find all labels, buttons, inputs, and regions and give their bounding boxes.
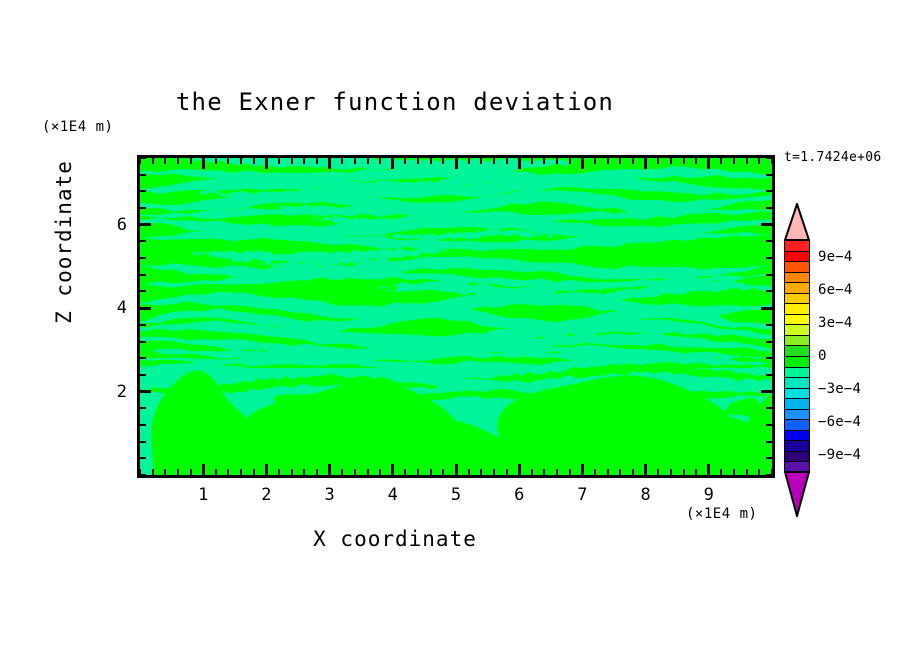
yaxis-tick-right: [766, 441, 772, 443]
xaxis-tick-minor: [278, 469, 280, 475]
xaxis-tick-minor: [417, 469, 419, 475]
yaxis-tick-minor: [140, 474, 146, 476]
xaxis-tick-top: [215, 158, 217, 164]
xaxis-tick-minor: [253, 469, 255, 475]
xaxis-tick-top: [379, 158, 381, 164]
time-stamp-label: t=1.7424e+06: [784, 150, 882, 165]
yaxis-tick-minor: [140, 274, 146, 276]
xaxis-tick-label: 5: [451, 485, 461, 505]
xaxis-tick-top: [569, 158, 571, 164]
xaxis-tick-minor: [607, 469, 609, 475]
yaxis-tick-right: [761, 307, 772, 310]
xaxis-tick-top: [581, 158, 584, 169]
colorbar-tick-label: −6e−4: [818, 414, 861, 430]
xaxis-tick-major: [518, 464, 521, 475]
xaxis-tick-top: [265, 158, 268, 169]
xaxis-tick-minor: [379, 469, 381, 475]
negative-contour-bands: [140, 158, 772, 475]
xaxis-tick-top: [455, 158, 458, 169]
yaxis-tick-major: [140, 223, 151, 226]
xaxis-tick-minor: [543, 469, 545, 475]
xaxis-tick-top: [190, 158, 192, 164]
yaxis-tick-right: [766, 374, 772, 376]
xaxis-tick-top: [594, 158, 596, 164]
xaxis-tick-minor: [152, 469, 154, 475]
xaxis-tick-minor: [164, 469, 166, 475]
yaxis-tick-right: [766, 240, 772, 242]
yaxis-tick-minor: [140, 374, 146, 376]
yaxis-tick-right: [766, 474, 772, 476]
xaxis-units-label: (×1E4 m): [686, 506, 757, 522]
xaxis-tick-minor: [480, 469, 482, 475]
xaxis-tick-minor: [720, 469, 722, 475]
xaxis-tick-major: [707, 464, 710, 475]
yaxis-tick-right: [766, 207, 772, 209]
xaxis-tick-top: [720, 158, 722, 164]
xaxis-tick-top: [619, 158, 621, 164]
yaxis-tick-right: [766, 357, 772, 359]
xaxis-tick-minor: [303, 469, 305, 475]
xaxis-tick-top: [695, 158, 697, 164]
yaxis-tick-minor: [140, 174, 146, 176]
yaxis-tick-minor: [140, 457, 146, 459]
xaxis-tick-minor: [619, 469, 621, 475]
xaxis-tick-top: [707, 158, 710, 169]
colorbar: [784, 240, 810, 472]
xaxis-tick-minor: [316, 469, 318, 475]
colorbar-tick-label: −9e−4: [818, 447, 861, 463]
xaxis-tick-label: 4: [388, 485, 398, 505]
xaxis-tick-minor: [758, 469, 760, 475]
xaxis-tick-major: [202, 464, 205, 475]
yaxis-tick-minor: [140, 240, 146, 242]
xaxis-tick-top: [733, 158, 735, 164]
yaxis-tick-right: [766, 407, 772, 409]
xaxis-tick-top: [468, 158, 470, 164]
yaxis-tick-right: [766, 290, 772, 292]
figure-canvas: the Exner function deviation (×1E4 m) t=…: [0, 0, 904, 654]
yaxis-tick-minor: [140, 407, 146, 409]
xaxis-tick-minor: [468, 469, 470, 475]
yaxis-tick-major: [140, 390, 151, 393]
yaxis-tick-right: [766, 257, 772, 259]
xaxis-tick-top: [303, 158, 305, 164]
xaxis-tick-minor: [240, 469, 242, 475]
colorbar-over-arrow: [784, 203, 810, 241]
yaxis-tick-minor: [140, 257, 146, 259]
xaxis-tick-minor: [354, 469, 356, 475]
xaxis-tick-minor: [190, 469, 192, 475]
xaxis-tick-minor: [746, 469, 748, 475]
xaxis-tick-minor: [177, 469, 179, 475]
yaxis-tick-right: [761, 223, 772, 226]
xaxis-tick-top: [746, 158, 748, 164]
xaxis-tick-minor: [430, 469, 432, 475]
xaxis-tick-minor: [733, 469, 735, 475]
xaxis-tick-minor: [291, 469, 293, 475]
xaxis-tick-top: [480, 158, 482, 164]
xaxis-tick-minor: [506, 469, 508, 475]
xaxis-tick-major: [265, 464, 268, 475]
yaxis-tick-right: [766, 424, 772, 426]
yaxis-units-label: (×1E4 m): [42, 119, 113, 135]
xaxis-tick-top: [758, 158, 760, 164]
xaxis-tick-major: [581, 464, 584, 475]
xaxis-tick-label: 8: [640, 485, 650, 505]
xaxis-tick-minor: [632, 469, 634, 475]
xaxis-tick-top: [367, 158, 369, 164]
contour-field: [140, 158, 772, 475]
yaxis-tick-right: [766, 157, 772, 159]
yaxis-tick-right: [766, 457, 772, 459]
xaxis-tick-major: [455, 464, 458, 475]
yaxis-tick-right: [761, 390, 772, 393]
xaxis-tick-minor: [657, 469, 659, 475]
xaxis-tick-top: [417, 158, 419, 164]
xaxis-tick-top: [644, 158, 647, 169]
xaxis-tick-top: [670, 158, 672, 164]
yaxis-title: Z coordinate: [52, 152, 76, 332]
xaxis-tick-label: 7: [577, 485, 587, 505]
xaxis-tick-top: [531, 158, 533, 164]
xaxis-tick-label: 3: [324, 485, 334, 505]
yaxis-tick-minor: [140, 157, 146, 159]
colorbar-tick-label: 6e−4: [818, 282, 853, 298]
xaxis-tick-top: [430, 158, 432, 164]
xaxis-tick-top: [543, 158, 545, 164]
xaxis-title: X coordinate: [0, 527, 790, 551]
yaxis-tick-right: [766, 341, 772, 343]
yaxis-tick-minor: [140, 207, 146, 209]
xaxis-tick-top: [657, 158, 659, 164]
xaxis-tick-minor: [683, 469, 685, 475]
xaxis-tick-minor: [227, 469, 229, 475]
xaxis-tick-top: [493, 158, 495, 164]
xaxis-tick-top: [152, 158, 154, 164]
xaxis-tick-top: [607, 158, 609, 164]
yaxis-tick-right: [766, 274, 772, 276]
xaxis-tick-top: [316, 158, 318, 164]
xaxis-tick-top: [683, 158, 685, 164]
yaxis-tick-minor: [140, 341, 146, 343]
xaxis-tick-major: [644, 464, 647, 475]
yaxis-tick-minor: [140, 324, 146, 326]
xaxis-tick-major: [391, 464, 394, 475]
xaxis-tick-minor: [404, 469, 406, 475]
xaxis-tick-top: [632, 158, 634, 164]
xaxis-tick-minor: [367, 469, 369, 475]
xaxis-tick-top: [202, 158, 205, 169]
yaxis-tick-right: [766, 324, 772, 326]
xaxis-tick-top: [177, 158, 179, 164]
xaxis-tick-label: 1: [198, 485, 208, 505]
yaxis-tick-label: 4: [103, 298, 127, 318]
yaxis-tick-label: 6: [103, 215, 127, 235]
contour-plot-area: [137, 155, 775, 478]
colorbar-tick-label: −3e−4: [818, 381, 861, 397]
xaxis-tick-top: [391, 158, 394, 169]
xaxis-tick-label: 9: [704, 485, 714, 505]
yaxis-tick-minor: [140, 441, 146, 443]
xaxis-tick-top: [164, 158, 166, 164]
yaxis-tick-right: [766, 190, 772, 192]
xaxis-tick-top: [506, 158, 508, 164]
yaxis-tick-minor: [140, 190, 146, 192]
xaxis-tick-top: [227, 158, 229, 164]
xaxis-tick-top: [341, 158, 343, 164]
xaxis-tick-minor: [215, 469, 217, 475]
xaxis-tick-label: 2: [261, 485, 271, 505]
xaxis-tick-top: [518, 158, 521, 169]
xaxis-tick-top: [404, 158, 406, 164]
xaxis-tick-minor: [341, 469, 343, 475]
page-title: the Exner function deviation: [0, 88, 790, 116]
yaxis-tick-major: [140, 307, 151, 310]
xaxis-tick-minor: [556, 469, 558, 475]
xaxis-tick-minor: [569, 469, 571, 475]
xaxis-tick-minor: [695, 469, 697, 475]
colorbar-tick-label: 3e−4: [818, 315, 853, 331]
xaxis-tick-minor: [531, 469, 533, 475]
yaxis-tick-minor: [140, 424, 146, 426]
xaxis-tick-minor: [442, 469, 444, 475]
xaxis-tick-minor: [594, 469, 596, 475]
yaxis-tick-right: [766, 174, 772, 176]
colorbar-tick-label: 0: [818, 348, 827, 364]
yaxis-tick-minor: [140, 357, 146, 359]
xaxis-tick-top: [354, 158, 356, 164]
xaxis-tick-label: 6: [514, 485, 524, 505]
xaxis-tick-top: [278, 158, 280, 164]
xaxis-tick-top: [328, 158, 331, 169]
xaxis-tick-top: [291, 158, 293, 164]
xaxis-tick-major: [328, 464, 331, 475]
yaxis-tick-minor: [140, 290, 146, 292]
xaxis-tick-top: [556, 158, 558, 164]
xaxis-tick-minor: [493, 469, 495, 475]
colorbar-under-arrow: [784, 471, 810, 517]
xaxis-tick-minor: [670, 469, 672, 475]
colorbar-tick-label: 9e−4: [818, 249, 853, 265]
xaxis-tick-top: [442, 158, 444, 164]
xaxis-tick-top: [240, 158, 242, 164]
xaxis-tick-top: [253, 158, 255, 164]
yaxis-tick-label: 2: [103, 382, 127, 402]
